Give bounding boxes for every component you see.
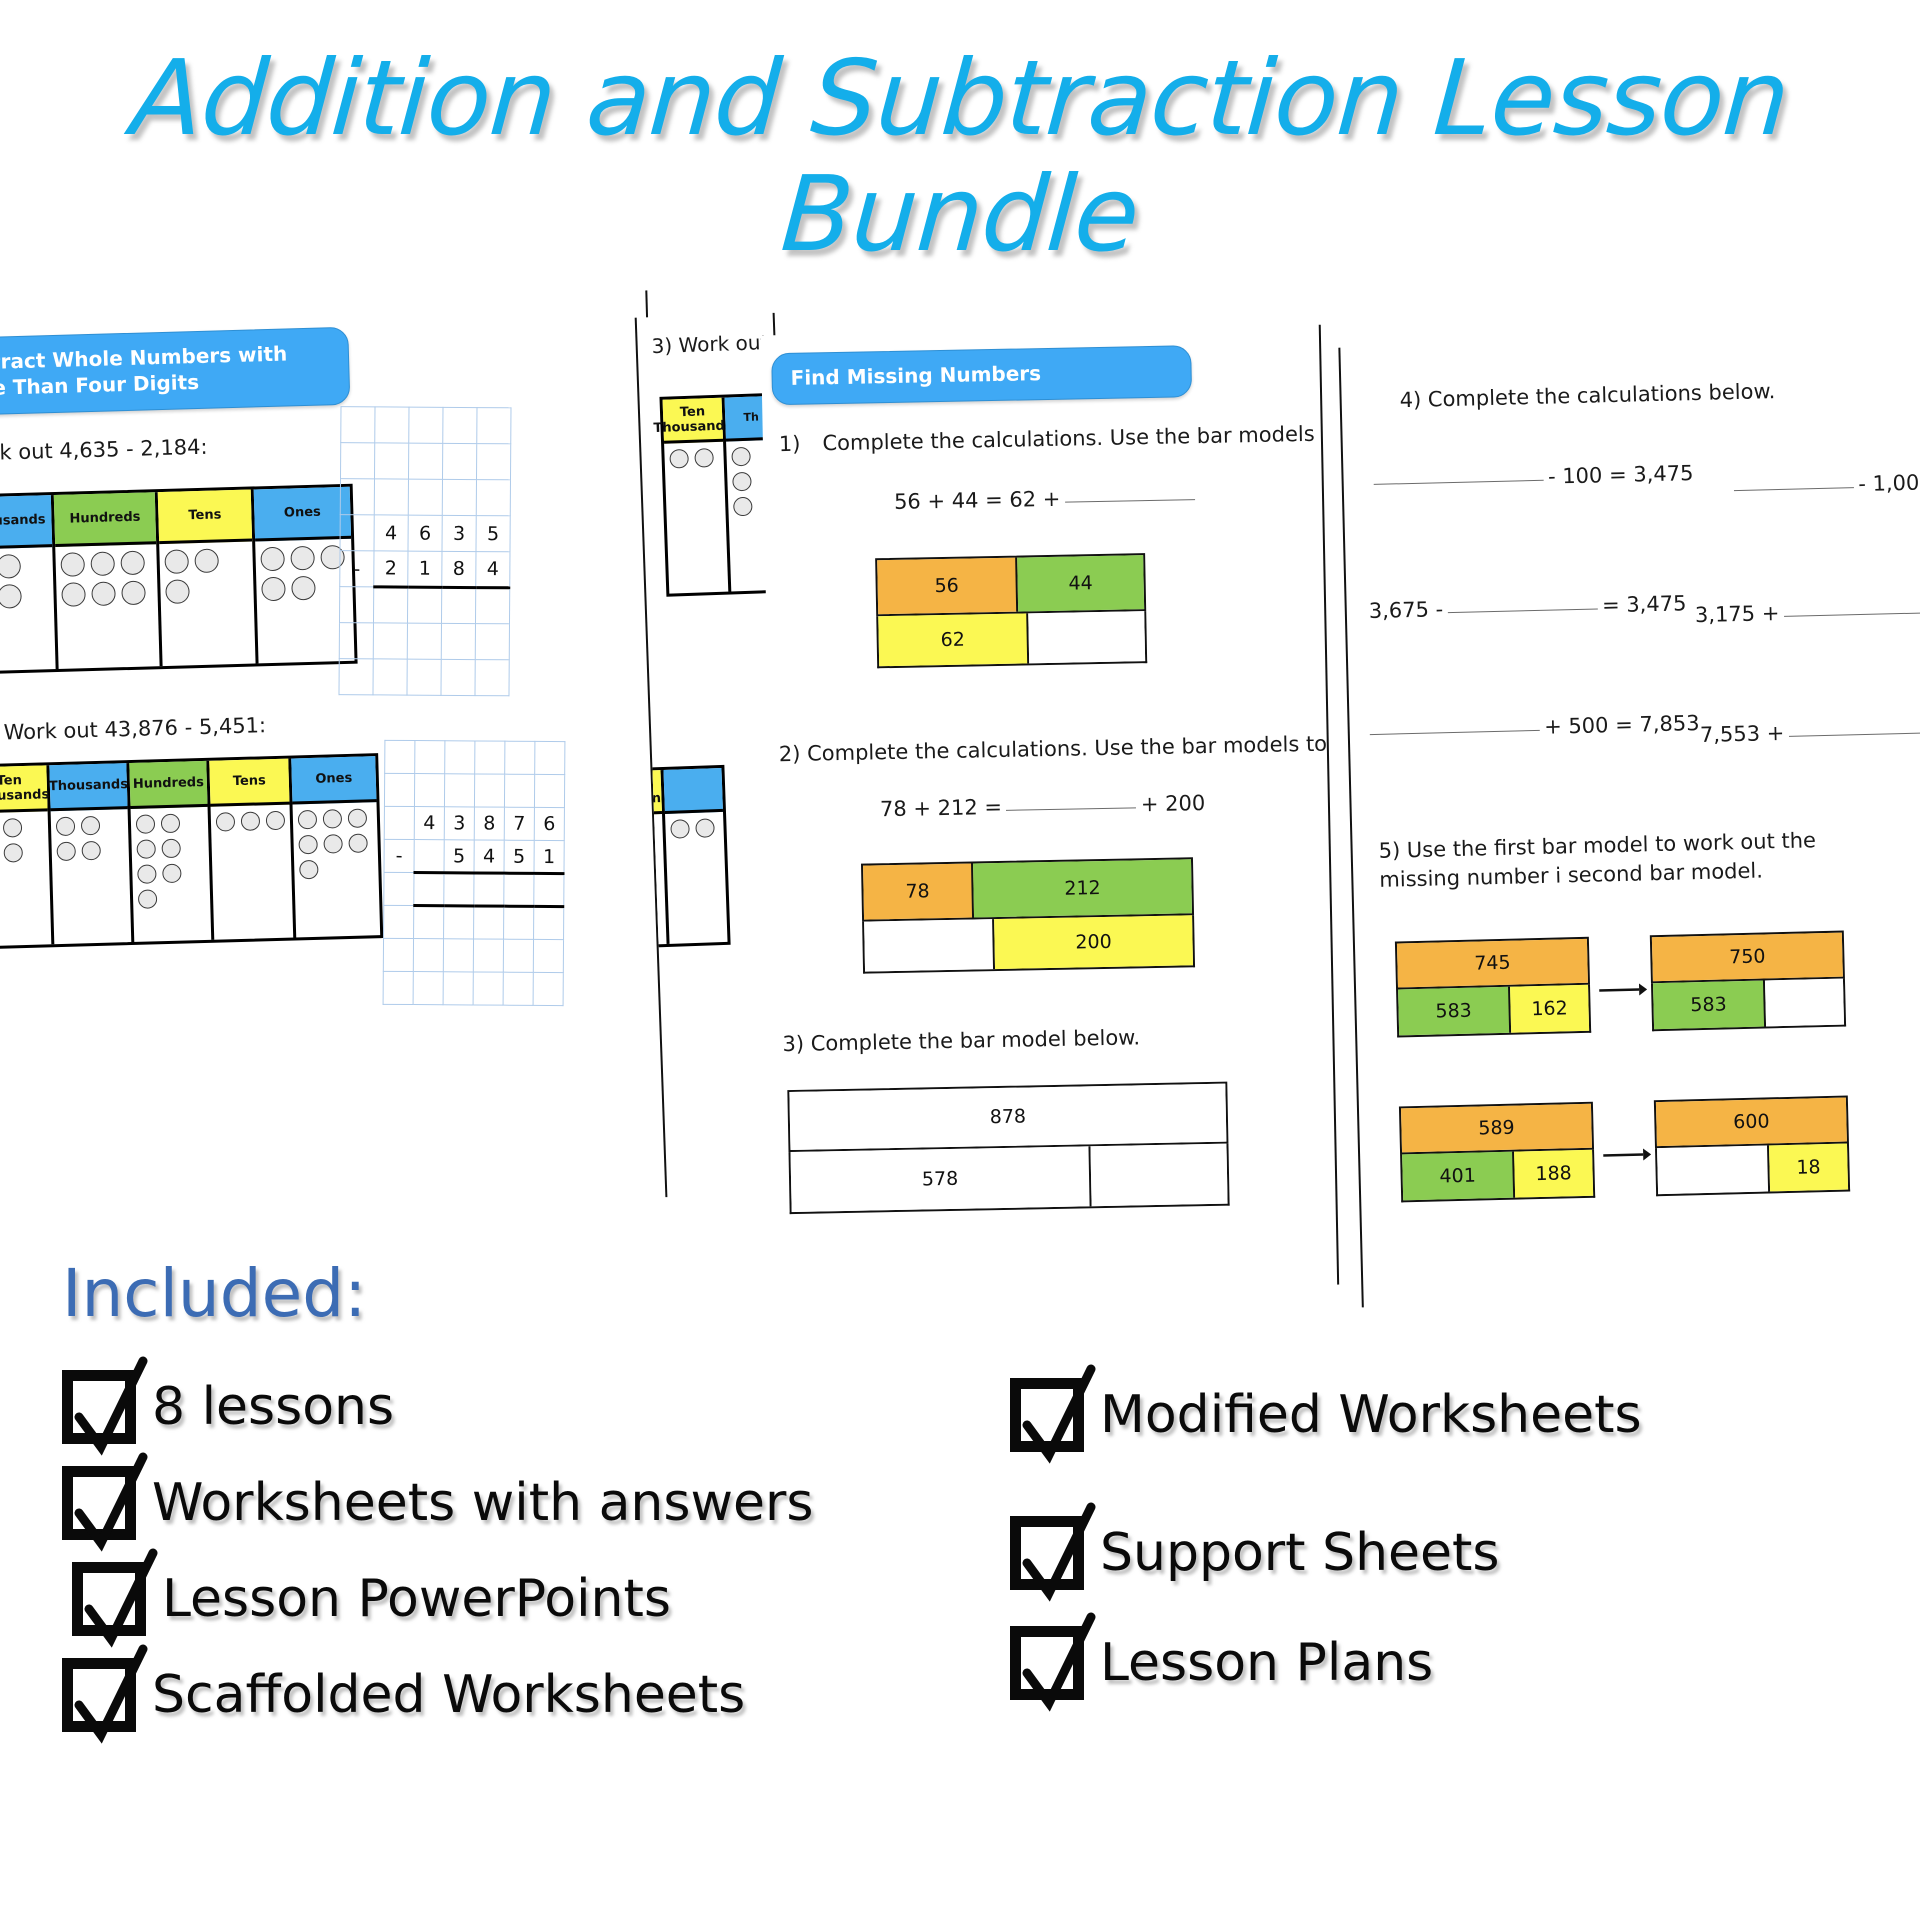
bar-model-row-top: 589 [1399,1102,1594,1155]
pv-column-header: Hundreds [129,761,207,809]
bar-cell-blank[interactable] [1090,1144,1227,1207]
counter [298,810,318,830]
pv-counters [211,805,294,940]
counter [194,548,219,573]
counter [137,864,157,884]
page-title-line-2: Bundle [0,156,1920,272]
counter [695,818,715,838]
counter [299,860,319,880]
counter [121,581,146,606]
pv-column: Ten Thousands [0,765,54,946]
column-subtraction-grid-q1: 4 6 3 5 - 2 1 8 4 [338,406,511,696]
bar-cell: 589 [1401,1104,1592,1153]
grid-digit: 6 [408,515,442,551]
checkbox-checked[interactable] [62,1370,136,1444]
counter [291,576,316,601]
bar-model-row-bottom: 578 [789,1144,1230,1214]
counter [323,809,343,829]
q1-equation: 56 + 44 = 62 + [894,487,1061,514]
q4-r1-right-blank[interactable] [1734,487,1854,491]
q4-r3-right-blank[interactable] [1789,732,1920,737]
list-item-label: Worksheets with answers [152,1473,813,1533]
counter [290,546,315,571]
q4-r3-left-expr: + 500 = 7,853 [1544,711,1700,739]
place-value-chart-q2: Ten Thousands Thousands Hundreds [0,753,383,949]
q2-answer-blank[interactable] [1006,807,1136,810]
bar-model-row-top: 78 212 [861,857,1194,921]
checkmark-icon [1007,1611,1107,1719]
counter [61,582,86,607]
counter [138,889,158,909]
bar-cell: 878 [789,1084,1226,1150]
question-4-text: 4) Complete the calculations below. [1399,377,1775,415]
bar-model-q5-pair2-b: 600 18 [1654,1095,1850,1196]
counter [90,551,115,576]
bar-model-q2: 78 212 200 [861,857,1195,973]
pv-column: Thousands [0,495,59,672]
counter [136,814,156,834]
pv-counters [55,544,159,669]
counter [164,549,189,574]
pv-column-header: Tens [158,490,252,545]
counter [266,811,286,831]
counter [241,811,261,831]
pv-counters [0,547,56,671]
bar-cell: 18 [1769,1144,1848,1192]
pv-column-header [663,768,723,814]
list-item[interactable]: Worksheets with answers [62,1466,813,1540]
list-item-label: Lesson Plans [1100,1633,1433,1693]
q4-r3-left-blank[interactable] [1370,730,1540,735]
grid-digit: 4 [474,840,504,873]
pv-column: Ten Thousands [663,398,732,594]
pv-column: Hundreds [129,761,214,942]
question-1-text: ) Work out 4,635 - 2,184: [0,433,208,469]
pv-column-header: Ones [291,756,376,804]
list-item-label: Support Sheets [1100,1523,1500,1583]
counter [694,448,714,468]
pv-column: Hundreds [54,492,163,669]
checkbox-checked[interactable] [1010,1516,1084,1590]
grid-digit: 4 [374,515,408,551]
counter [81,841,101,861]
pv-counters [0,811,51,946]
list-item[interactable]: Scaffolded Worksheets [62,1658,813,1732]
bar-model-row-top: 745 [1395,937,1590,990]
q2-equation-left: 78 + 212 = [880,795,1002,821]
counter [261,577,286,602]
bar-model-row-bottom: 62 [876,611,1147,668]
grid-digit: 6 [534,807,564,840]
counter [669,449,689,469]
counter [3,843,23,863]
bar-model-row-bottom: 18 [1655,1143,1850,1196]
list-item[interactable]: 8 lessons [62,1370,813,1444]
counter [91,581,116,606]
pv-column: Ones [291,756,380,937]
question-2-label: Complete the calculations. Use the bar m… [807,730,1339,766]
bar-model-row-bottom: 401 188 [1400,1150,1595,1203]
list-item-label: Scaffolded Worksheets [152,1665,745,1725]
bar-model-q3: 878 578 [787,1082,1229,1214]
q1-answer-blank[interactable] [1065,499,1195,502]
bar-model-row-top: 750 [1650,931,1845,984]
bar-cell: 600 [1656,1098,1847,1147]
bar-cell-blank[interactable] [1765,979,1844,1027]
counter [731,447,751,467]
checkmark-icon [1007,1363,1107,1471]
bar-cell: 583 [1398,987,1511,1036]
arrow-right-icon [1603,1145,1651,1164]
bar-model-q5-pair1-a: 745 583 162 [1395,937,1591,1038]
pv-counters [51,809,132,944]
column-subtraction-grid-q2: 4 3 8 7 6 - 5 4 5 1 [383,740,566,1006]
grid-digit: 5 [504,840,534,873]
checkbox-checked[interactable] [62,1658,136,1732]
place-value-chart-q1: Thousands Hundreds Tens [0,484,358,675]
counter [161,814,181,834]
grid-operator: - [384,839,414,872]
grid-digit: 3 [442,515,476,551]
grid-digit [414,840,444,873]
grid-operator: - [340,551,374,587]
bar-cell: 578 [791,1146,1092,1212]
bar-cell-blank[interactable] [1028,611,1145,663]
counter [165,579,190,604]
checkmark-icon [59,1643,159,1751]
q4-r1-right-expr: - 1,00 [1858,471,1920,496]
bar-model-q5-pair1-b: 750 583 [1650,931,1846,1032]
list-item-label: Lesson PowerPoints [162,1569,671,1629]
list-item[interactable]: Support Sheets [1010,1516,1642,1590]
q4-r2-right-prefix: 3,175 + [1695,601,1780,627]
bar-model-row-top: 878 [787,1082,1228,1152]
bar-model-row-top: 600 [1654,1095,1849,1148]
pv-column-header: Ten Thousands [663,398,723,444]
pv-column [663,768,727,944]
question-3-label: Complete the bar model below. [810,1025,1140,1055]
q2-equation-right: + 200 [1141,791,1206,816]
pv-column-header: Hundreds [54,492,156,547]
bar-cell: 750 [1652,933,1843,982]
checkbox-checked[interactable] [62,1466,136,1540]
counter [56,842,76,862]
pv-counters [159,542,255,667]
checkmark-icon [59,1355,159,1463]
q4-r2-left-blank[interactable] [1448,608,1598,613]
bar-model-row-bottom: 200 [862,915,1195,973]
pv-column: Tens [158,489,259,666]
list-item-label: 8 lessons [152,1377,394,1437]
bar-cell: 188 [1514,1150,1593,1198]
bar-cell: 401 [1402,1152,1515,1201]
pv-column: Tens [209,759,296,940]
question-5-text: 5) Use the first bar model to work out t… [1378,824,1899,895]
pv-counters [131,807,212,942]
bar-cell-blank[interactable] [864,919,995,971]
counter [733,497,753,517]
q4-r2-left-prefix: 3,675 - [1369,597,1444,623]
question-3-number: 3) [782,1032,804,1056]
pv-column-header: Ten Thousands [0,765,48,813]
q4-r3-right-prefix: 7,553 + [1700,721,1785,747]
list-item-label: Modified Worksheets [1100,1385,1642,1445]
bar-model-q5-pair2-a: 589 401 188 [1399,1102,1595,1203]
worksheet-subtract-whole-numbers: Subtract Whole Numbers with More Than Fo… [0,290,672,1209]
grid-digit: 4 [476,552,510,588]
grid-digit: 5 [476,516,510,552]
grid-digit: 3 [444,807,474,840]
checkbox-checked[interactable] [72,1562,146,1636]
pv-counters [665,812,728,944]
question-3-text: 3) Complete the bar model below. [782,1023,1140,1059]
included-list-right: Modified Worksheets Support Sheets Lesso… [1010,1378,1642,1722]
q4-r2-left-suffix: = 3,475 [1602,591,1687,617]
checkmark-icon [69,1547,169,1655]
bar-cell: 78 [863,863,974,919]
included-heading: Included: [62,1255,366,1332]
counter [670,819,690,839]
worksheet-banner-subtract: Subtract Whole Numbers with More Than Fo… [0,327,350,417]
counter [732,472,752,492]
bar-cell: 162 [1510,985,1589,1033]
counter [136,839,156,859]
bar-cell: 200 [994,915,1193,969]
bar-cell-blank[interactable] [1657,1145,1770,1194]
checkbox-checked[interactable] [1010,1626,1084,1700]
grid-digit: 8 [474,807,504,840]
bar-model-row-bottom: 583 [1651,979,1846,1032]
arrow-right-icon [1599,980,1647,999]
grid-digit: 4 [414,807,444,840]
pv-column-header: Ones [254,487,351,542]
worksheet-banner-find-missing: Find Missing Numbers [771,345,1192,405]
included-list-left: 8 lessons Worksheets with answers Lesson… [62,1370,813,1754]
counter [260,547,285,572]
question-1-text: Complete the calculations. Use the bar m… [822,417,1339,458]
counter [162,864,182,884]
counter [81,816,101,836]
page-title: Addition and Subtraction Lesson Bundle [0,40,1920,272]
bar-cell: 44 [1017,555,1144,611]
checkbox-checked[interactable] [1010,1378,1084,1452]
counter [348,833,368,853]
q4-r1-left-expr: - 100 = 3,475 [1548,461,1694,489]
pv-column: Thousands [49,763,134,944]
bar-model-row-top: 56 44 [875,553,1146,616]
grid-digit: 2 [374,551,408,587]
counter [3,818,23,838]
page-title-line-1: Addition and Subtraction Lesson [0,40,1920,156]
bar-cell: 62 [878,613,1029,666]
grid-digit: 8 [442,551,476,587]
grid-digit: 1 [534,840,564,873]
worksheet-find-missing-numbers: Find Missing Numbers 1) Complete the cal… [761,325,1339,1296]
bar-model-row-bottom: 583 162 [1396,985,1591,1038]
counter [161,839,181,859]
counter [0,554,21,579]
counter [298,835,318,855]
q4-r2-right-blank[interactable] [1784,612,1920,617]
bar-cell: 56 [877,558,1018,615]
pv-column-header: Thousands [0,495,52,550]
bar-cell: 745 [1397,939,1588,988]
counter [216,812,236,832]
bar-model-q1: 56 44 62 [875,553,1147,668]
counter [0,584,22,609]
counter [120,551,145,576]
bar-cell: 212 [973,859,1192,917]
question-2-text: 2) Work out 43,876 - 5,451: [0,711,266,748]
worksheet-complete-calculations: 4) Complete the calculations below. - 10… [1338,333,1920,1308]
pv-counters [664,442,728,594]
grid-digit: 1 [408,551,442,587]
checkmark-icon [1007,1501,1107,1609]
counter [60,552,85,577]
pv-column-header: Tens [209,759,289,807]
question-2-number: 2) [779,742,801,766]
list-item[interactable]: Lesson PowerPoints [72,1562,813,1636]
list-item[interactable]: Modified Worksheets [1010,1378,1642,1452]
bar-cell: 583 [1653,980,1766,1029]
question-1-number: 1) [779,430,801,459]
pv-column-header: Thousands [49,763,127,811]
pv-counters [293,802,381,937]
counter [323,834,343,854]
grid-digit: 5 [444,840,474,873]
counter [56,817,76,837]
counter [348,808,368,828]
checkmark-icon [59,1451,159,1559]
grid-digit: 7 [504,807,534,840]
q4-r1-left-blank[interactable] [1374,480,1544,485]
question-2-text: 2) Complete the calculations. Use the ba… [779,728,1340,770]
list-item[interactable]: Lesson Plans [1010,1626,1642,1700]
